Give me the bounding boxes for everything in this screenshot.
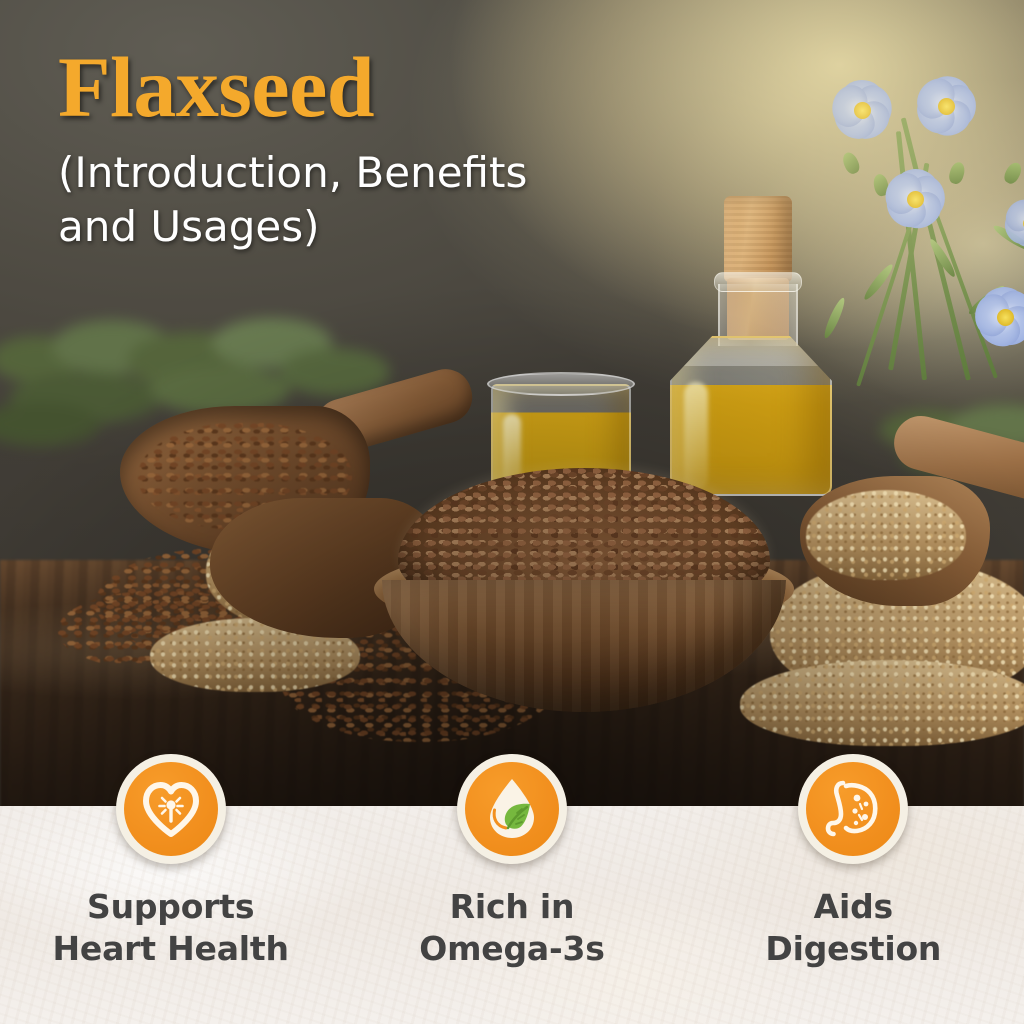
flax-flower	[960, 272, 1024, 362]
oil-drop-leaf-icon	[482, 776, 542, 842]
flax-flower	[820, 68, 904, 152]
title-block: Flaxseed (Introduction, Benefits and Usa…	[58, 44, 618, 254]
wooden-scoop-right	[800, 432, 1024, 632]
flax-flower	[898, 58, 994, 154]
heart-pulse-icon	[140, 780, 202, 838]
flax-flower	[994, 188, 1024, 258]
benefit-label: Rich in Omega-3s	[419, 886, 604, 969]
benefit-label: Aids Digestion	[765, 886, 941, 969]
meal-in-scoop	[806, 490, 966, 580]
wooden-bowl-of-flaxseed	[374, 468, 794, 718]
benefit-badge	[457, 754, 567, 864]
page-title: Flaxseed	[58, 44, 618, 130]
cork-stopper	[724, 196, 792, 282]
badge-fill	[124, 762, 218, 856]
benefit-label: Supports Heart Health	[53, 886, 289, 969]
benefit-badge	[798, 754, 908, 864]
flaxseed-infographic-poster: Flaxseed (Introduction, Benefits and Usa…	[0, 0, 1024, 1024]
benefit-rich-in-omega-3s[interactable]: Rich in Omega-3s	[362, 806, 662, 969]
benefit-badge	[116, 754, 226, 864]
badge-fill	[465, 762, 559, 856]
benefit-aids-digestion[interactable]: Aids Digestion	[703, 806, 1003, 969]
glass-rim	[487, 372, 635, 396]
page-subtitle: (Introduction, Benefits and Usages)	[58, 146, 578, 254]
badge-fill	[806, 762, 900, 856]
flax-flower	[866, 150, 964, 248]
benefit-supports-heart-health[interactable]: Supports Heart Health	[21, 806, 321, 969]
bottle-neck-ring	[714, 272, 802, 292]
benefits-row: Supports Heart Health R	[0, 806, 1024, 1024]
bowl-body	[382, 580, 786, 712]
stomach-digestion-icon	[822, 778, 884, 840]
